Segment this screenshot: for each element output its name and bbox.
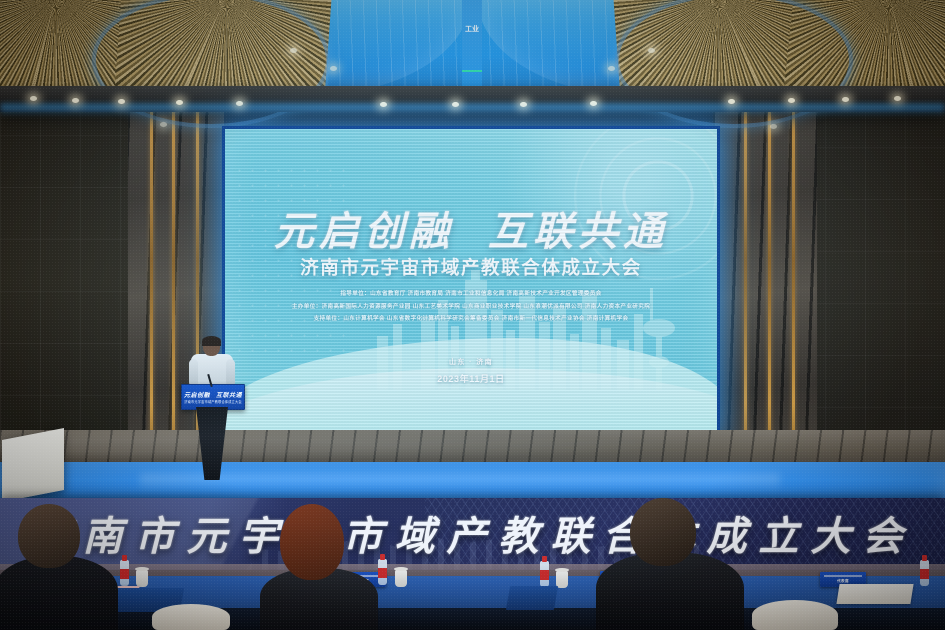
downlight [894,96,901,101]
upper-screen-text: 工业 [463,26,481,34]
downlight [590,101,597,106]
main-led-screen: 元启创融互联共通 济南市元宇宙市域产教联合体成立大会 指导单位：山东省教育厅 济… [222,126,720,437]
podium: 元启创融互联共通 济南市元宇宙市域产教联合体成立大会 [181,384,243,480]
banner-title-text: 济南市元宇宙市域产教联合体成立大会 [0,504,945,562]
organizer-line-support: 支持单位：山东计算机学会 山东省数字化计算机科学研究会筹备委员会 济南市新一代信… [225,313,717,326]
screen-place: 山东 · 济南 [225,357,717,367]
chair-back [752,600,838,630]
folder [506,586,558,610]
downlight [72,98,79,103]
downlight [30,96,37,101]
downlight [118,99,125,104]
paper-cup [136,570,148,587]
person-head [280,504,344,580]
name-card-rule [824,575,862,577]
podium-body [193,407,231,480]
downlight [330,66,337,71]
speaker-arm-left [189,359,198,387]
water-bottle [378,559,387,585]
downlight [452,102,459,107]
screen-slogan-left: 元启创融 [274,209,454,254]
podium-sign: 元启创融互联共通 济南市元宇宙市域产教联合体成立大会 [181,384,245,410]
downlight [788,98,795,103]
water-bottle [540,561,549,587]
wall-wash-light [770,124,777,129]
water-bottle [920,560,929,586]
person-head [630,498,696,566]
downlight [176,100,183,105]
organizer-line-guidance: 指导单位：山东省教育厅 济南市教育局 济南市工业和信息化局 济南高新技术产业开发… [225,288,717,301]
downlight [520,102,527,107]
whiteboard-easel [2,428,64,502]
chair-back [152,604,230,630]
screen-slogan: 元启创融互联共通 [225,199,717,257]
paper-cup [395,570,407,587]
organizer-line-host: 主办单位：济南高新国际人力资源服务产业园 山东工艺美术学院 山东商业职业技术学院… [225,301,717,314]
water-bottle [120,560,129,586]
downlight [380,102,387,107]
screen-date: 2023年11月1日 [225,372,717,385]
screen-slogan-right: 互联共通 [488,209,668,254]
wall-wash-light [160,122,167,127]
downlight [842,97,849,102]
podium-sign-subtitle: 济南市元宇宙市域产教联合体成立大会 [182,399,244,404]
speaker-hair [202,336,221,346]
downlight [236,101,243,106]
downlight [728,99,735,104]
screen-organizer-block: 指导单位：山东省教育厅 济南市教育局 济南市工业和信息化局 济南高新技术产业开发… [225,288,717,326]
downlight [290,48,297,53]
screen-event-title: 济南市元宇宙市域产教联合体成立大会 [225,254,717,280]
upper-led-strip-screen: 工业 [462,0,482,96]
upper-screen-accent-line [462,70,482,72]
person-head [18,504,80,568]
podium-sign-slogan: 元启创融互联共通 [182,390,244,399]
audience-person [264,505,372,630]
audience-person [0,510,112,630]
downlight [648,48,655,53]
cove-light-glow [0,104,945,116]
audience-person [604,500,734,630]
person-shoulders [0,556,118,630]
document-sheet [836,584,913,604]
speaker-arm-right [226,359,235,387]
conference-hall-photo: 工业 [0,0,945,630]
downlight [608,66,615,71]
